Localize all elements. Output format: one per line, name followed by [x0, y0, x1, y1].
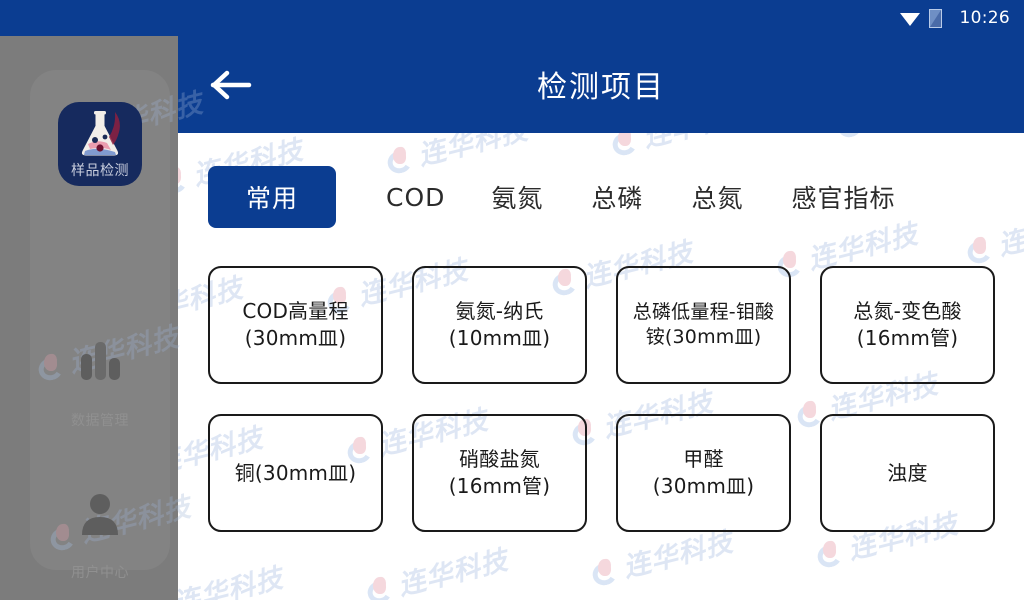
status-bar: 10:26	[0, 0, 1024, 36]
watermark-logo-icon	[812, 534, 848, 570]
wifi-icon	[900, 11, 920, 26]
tab-total-nitrogen[interactable]: 总氮	[681, 173, 753, 221]
back-button[interactable]	[205, 63, 257, 107]
sidebar-item-label: 样品检测	[71, 160, 129, 180]
tab-cod[interactable]: COD	[376, 177, 455, 218]
detection-card[interactable]: 铜(30mm皿)	[208, 414, 383, 532]
watermark-text: 连华科技	[178, 556, 287, 600]
app-root: 连华科技 连华科技 连华科技	[0, 0, 1024, 600]
detection-card-label: COD高量程 (30mm皿)	[237, 298, 353, 351]
sidebar-item-data-management[interactable]: 数据管理	[30, 320, 170, 430]
tab-ammonia[interactable]: 氨氮	[481, 173, 553, 221]
detection-card-label: 氨氮-纳氏 (10mm皿)	[444, 298, 555, 351]
sidebar-item-label: 用户中心	[71, 562, 129, 582]
watermark-logo-icon	[587, 552, 623, 588]
sidebar: 连华科技 连华科技 连华科技	[0, 36, 178, 600]
watermark-logo-icon	[362, 570, 398, 600]
tab-bar: 常用 COD 氨氮 总磷 总氮 感官指标	[178, 166, 1024, 228]
tab-total-phosphorus[interactable]: 总磷	[581, 173, 653, 221]
watermark-text: 连华科技	[863, 133, 981, 137]
battery-icon	[929, 9, 942, 28]
watermark-logo-icon	[962, 230, 998, 266]
user-icon	[75, 490, 125, 538]
watermark-text: 连华科技	[393, 538, 511, 600]
detection-card[interactable]: COD高量程 (30mm皿)	[208, 266, 383, 384]
detection-card-label: 总氮-变色酸 (16mm管)	[848, 298, 966, 351]
sidebar-item-sample-detection[interactable]: 样品检测	[30, 102, 170, 186]
detection-card[interactable]: 甲醛 (30mm皿)	[616, 414, 791, 532]
header-bar: 检测项目	[178, 36, 1024, 133]
detection-card-label: 铜(30mm皿)	[230, 460, 362, 487]
back-arrow-icon	[209, 68, 253, 102]
page-title: 检测项目	[178, 36, 1024, 133]
sidebar-icon-wrap: 样品检测	[58, 102, 142, 186]
detection-card[interactable]: 氨氮-纳氏 (10mm皿)	[412, 266, 587, 384]
watermark-text: 连华科技	[638, 133, 756, 155]
watermark: 连华科技	[605, 133, 756, 163]
watermark: 连华科技	[178, 556, 287, 600]
detection-card-label: 硝酸盐氮 (16mm管)	[444, 446, 555, 499]
detection-card-label: 甲醛 (30mm皿)	[648, 446, 759, 499]
watermark-logo-icon	[832, 133, 868, 141]
watermark: 连华科技	[360, 538, 511, 600]
watermark-logo-icon	[607, 133, 643, 159]
sidebar-item-label: 数据管理	[71, 410, 129, 430]
sidebar-icon-wrap	[58, 472, 142, 556]
status-icons: 10:26	[900, 8, 1011, 28]
detection-card[interactable]: 硝酸盐氮 (16mm管)	[412, 414, 587, 532]
bar-chart-icon	[75, 338, 125, 386]
tab-changyong[interactable]: 常用	[208, 166, 336, 228]
flask-icon: 样品检测	[58, 102, 142, 186]
sidebar-item-user-center[interactable]: 用户中心	[30, 472, 170, 582]
detection-card[interactable]: 总氮-变色酸 (16mm管)	[820, 266, 995, 384]
watermark: 连华科技	[830, 133, 981, 145]
detection-card[interactable]: 浊度	[820, 414, 995, 532]
status-time: 10:26	[960, 8, 1011, 28]
detection-item-grid: COD高量程 (30mm皿) 氨氮-纳氏 (10mm皿) 总磷低量程-钼酸 铵(…	[208, 266, 1008, 532]
sidebar-icon-wrap	[58, 320, 142, 404]
detection-card-label: 总磷低量程-钼酸 铵(30mm皿)	[628, 300, 779, 351]
detection-card[interactable]: 总磷低量程-钼酸 铵(30mm皿)	[616, 266, 791, 384]
detection-card-label: 浊度	[882, 460, 932, 487]
main-content: 连华科技 连华科技 连华科技 连华科技 连华科技 连华科技 连华科技 连华科技 …	[178, 133, 1024, 600]
tab-sensory-index[interactable]: 感官指标	[781, 173, 905, 221]
flask-glyph	[71, 109, 129, 159]
